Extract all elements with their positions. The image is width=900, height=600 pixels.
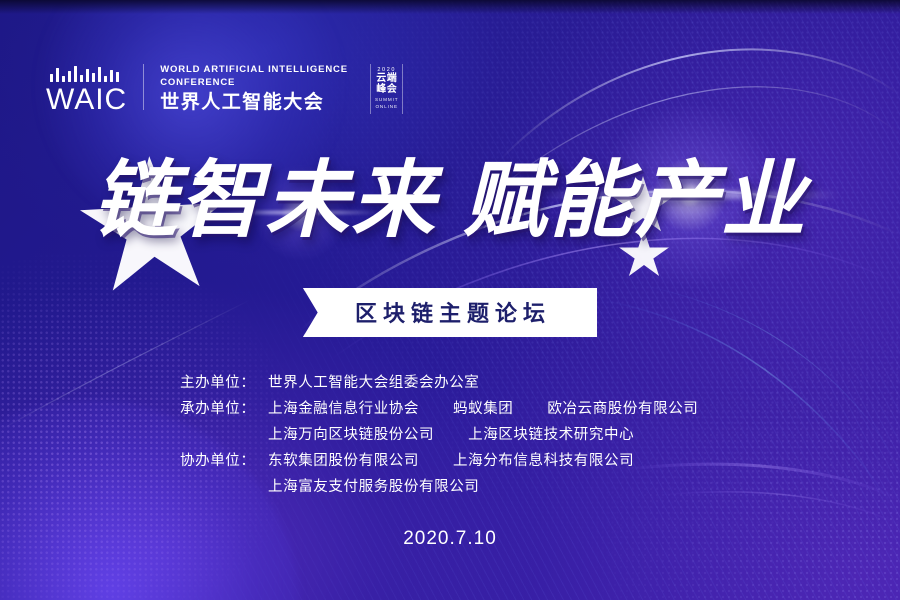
credit-label: 协办单位： <box>180 448 268 474</box>
sound-wave-bar-7 <box>86 69 89 82</box>
sound-wave-bar-11 <box>110 70 113 82</box>
credit-organizations: 世界人工智能大会组委会办公室 <box>268 370 479 396</box>
credit-line: 主办单位：上海富友支付服务股份有限公司 <box>180 474 720 500</box>
credit-organization: 世界人工智能大会组委会办公室 <box>268 370 479 396</box>
event-poster: WAIC WORLD ARTIFICIAL INTELLIGENCE CONFE… <box>0 0 900 600</box>
sound-wave-bar-12 <box>116 72 119 82</box>
credit-line: 承办单位：上海金融信息行业协会蚂蚁集团欧冶云商股份有限公司 <box>180 396 720 422</box>
sound-wave-bar-3 <box>62 76 65 82</box>
credit-organizations: 东软集团股份有限公司上海分布信息科技有限公司 <box>268 448 634 474</box>
main-title-part-1: 链智未来 <box>93 153 437 247</box>
credit-label: 主办单位： <box>180 370 268 396</box>
logo-chinese-name: 世界人工智能大会 <box>160 92 348 114</box>
sound-wave-bar-10 <box>104 76 107 82</box>
credit-organization: 上海分布信息科技有限公司 <box>453 448 634 474</box>
badge-english-line-1: SUMMIT <box>375 97 399 103</box>
credit-label: 承办单位： <box>180 396 268 422</box>
logo-divider <box>143 64 144 110</box>
badge-chinese-line-1: 云端 <box>376 74 397 85</box>
credit-organization: 上海富友支付服务股份有限公司 <box>268 474 479 500</box>
badge-chinese-line-2: 峰会 <box>376 85 397 96</box>
credit-organization: 东软集团股份有限公司 <box>268 448 419 474</box>
credits-block: 主办单位：世界人工智能大会组委会办公室承办单位：上海金融信息行业协会蚂蚁集团欧冶… <box>0 370 900 500</box>
credit-organization: 上海万向区块链股份公司 <box>268 422 434 448</box>
waic-wordmark-block: WAIC <box>46 62 127 114</box>
sound-wave-bar-6 <box>80 75 83 82</box>
subtitle-ribbon: 区块链主题论坛 <box>303 288 597 337</box>
credit-organizations: 上海富友支付服务股份有限公司 <box>268 474 479 500</box>
credit-organization: 蚂蚁集团 <box>453 396 513 422</box>
main-title-part-2: 赋能产业 <box>463 153 807 247</box>
waic-logo: WAIC WORLD ARTIFICIAL INTELLIGENCE CONFE… <box>46 62 403 114</box>
sound-wave-bar-5 <box>74 66 77 82</box>
main-title-area: 链智未来赋能产业 <box>0 158 900 244</box>
badge-year: 2020 <box>377 67 396 73</box>
credit-line: 主办单位：世界人工智能大会组委会办公室 <box>180 370 720 396</box>
sound-wave-bar-9 <box>98 67 101 82</box>
event-date: 2020.7.10 <box>0 528 900 550</box>
logo-english-line-2: CONFERENCE <box>160 76 348 89</box>
sound-wave-bar-4 <box>68 71 71 82</box>
sound-wave-bar-1 <box>50 74 53 82</box>
credit-line: 协办单位：东软集团股份有限公司上海分布信息科技有限公司 <box>180 448 720 474</box>
credit-organizations: 上海金融信息行业协会蚂蚁集团欧冶云商股份有限公司 <box>268 396 698 422</box>
credit-organizations: 上海万向区块链股份公司上海区块链技术研究中心 <box>268 422 634 448</box>
credit-line: 主办单位：上海万向区块链股份公司上海区块链技术研究中心 <box>180 422 720 448</box>
sound-wave-bar-8 <box>92 73 95 82</box>
logo-text-block: WORLD ARTIFICIAL INTELLIGENCE CONFERENCE… <box>160 63 348 114</box>
credit-organization: 上海区块链技术研究中心 <box>468 422 634 448</box>
sound-wave-bar-2 <box>56 68 59 82</box>
waic-wordmark: WAIC <box>46 86 127 114</box>
top-edge-fade <box>0 0 900 14</box>
logo-english-line-1: WORLD ARTIFICIAL INTELLIGENCE <box>160 63 348 76</box>
badge-english-line-2: ONLINE <box>375 104 398 110</box>
credit-organization: 上海金融信息行业协会 <box>268 396 419 422</box>
main-title: 链智未来赋能产业 <box>93 158 807 244</box>
subtitle-ribbon-area: 区块链主题论坛 <box>0 288 900 337</box>
credit-organization: 欧冶云商股份有限公司 <box>547 396 698 422</box>
summit-online-badge: 2020 云端 峰会 SUMMIT ONLINE <box>370 64 404 114</box>
sound-wave-bars-icon <box>50 62 119 82</box>
